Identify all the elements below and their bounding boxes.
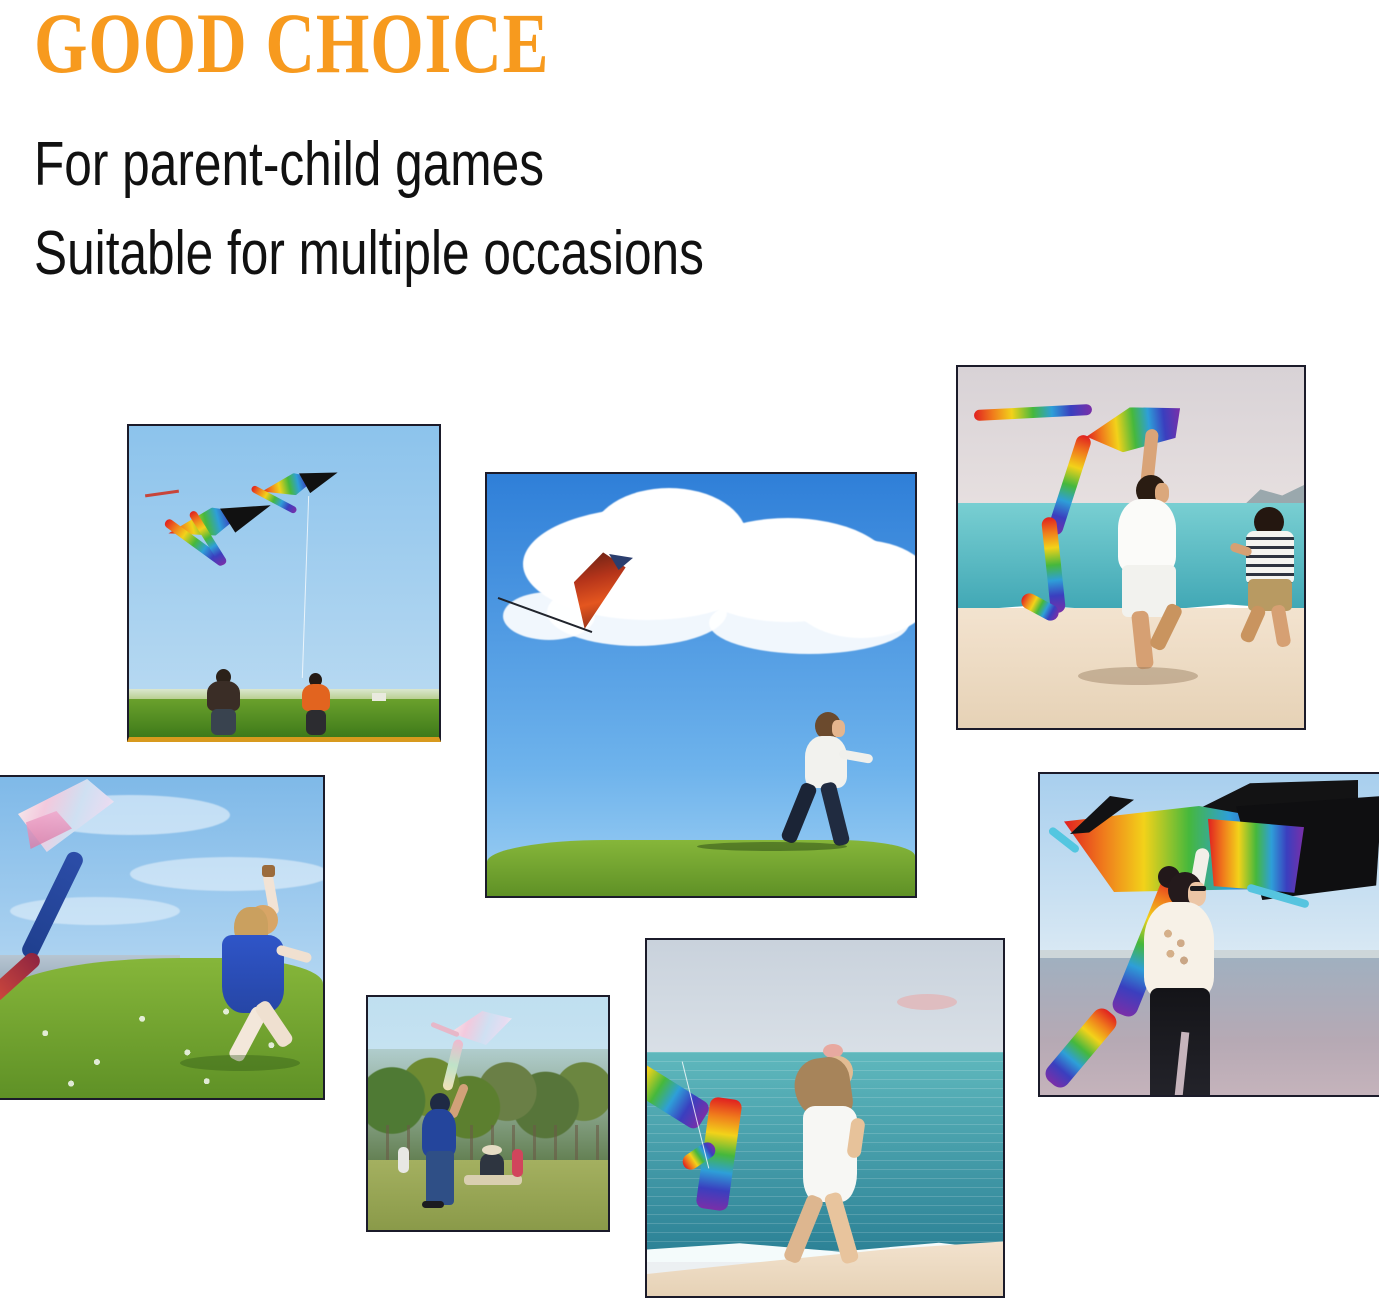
subtitle-line-2: Suitable for multiple occasions [34,222,704,286]
girl-dress [222,935,284,1013]
boy-face [832,720,845,737]
scene-horizon-haze [129,689,439,699]
girl-hand-reel [262,865,275,877]
scene-sky [958,367,1304,728]
distant-structure [372,693,386,701]
scene-sky [487,474,915,896]
scene-sky [647,940,1003,1296]
subtitle-line-1: For parent-child games [34,133,544,197]
photo-boy-grass-clouds [485,472,917,898]
photo-woman-large-rainbow-kite [1038,772,1379,1097]
person-adult-legs [211,709,236,735]
man-jeans [426,1151,454,1205]
girl-shadow [180,1055,300,1071]
person-child-legs [306,710,326,735]
scene-sky [368,997,608,1230]
kite-upper-streamer [974,404,1092,421]
boy-leg-back [780,781,818,844]
scene-sky [129,426,439,737]
kite-left-streamer [145,490,179,498]
woman-sweater-print [1156,924,1196,972]
scene-sky [1040,774,1379,1095]
man-shirt [422,1109,456,1157]
scene-ground [129,699,439,737]
picnic-sitter-hat [482,1145,502,1155]
person-adult-torso [207,681,240,711]
man-shadow [1078,667,1198,685]
boy-shirt [805,736,847,788]
man-shirt [1118,499,1176,573]
photo-beach-father-son [956,365,1306,730]
boy-striped-shirt [1246,531,1294,583]
photo-field-two-flyers [127,424,441,742]
photo-park-man-launching [366,995,610,1232]
woman-glasses [1190,886,1206,891]
boy-leg-front [819,781,850,847]
photo-girl-blue-dress-meadow [0,775,325,1100]
page-headline: GOOD CHOICE [34,0,549,88]
picnic-mat [464,1175,522,1185]
park-person-pink [512,1149,523,1177]
photo-girl-white-dress-shore [645,938,1005,1298]
scene-ground [487,840,915,896]
sunset-cloud [897,994,957,1010]
scene-sky [0,777,323,1098]
park-person-white [398,1147,409,1173]
person-child-torso [302,684,330,711]
kite-sail [1084,402,1184,456]
boy-shadow [697,842,847,851]
kite-string [302,496,309,678]
man-shoe [422,1201,444,1208]
kite-rainbow-right-panel [1208,814,1304,896]
